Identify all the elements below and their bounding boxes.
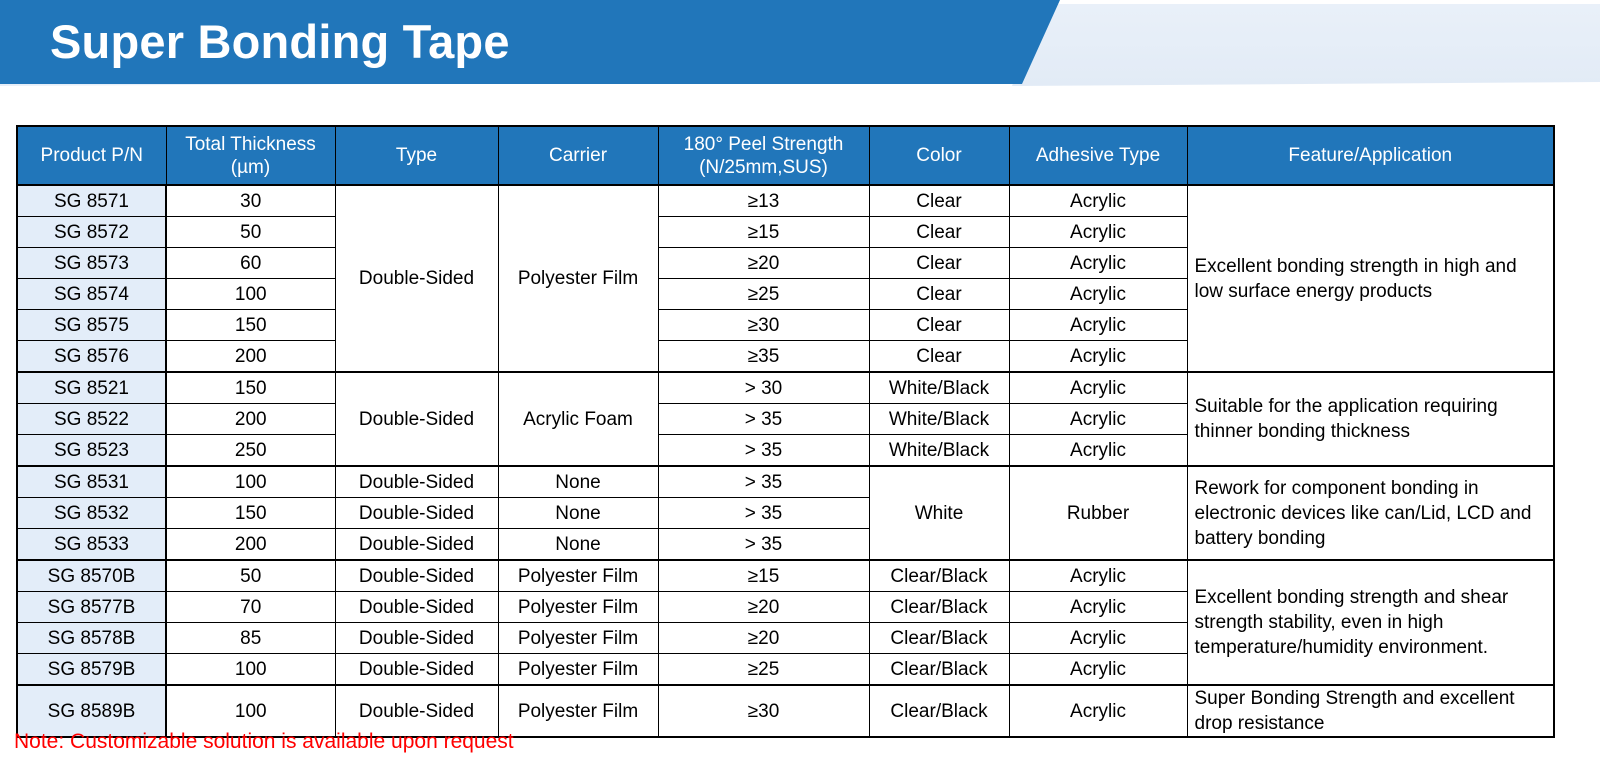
- cell-feature-application: Super Bonding Strength and excellent dro…: [1187, 685, 1554, 737]
- cell-color-merged: White: [869, 466, 1009, 560]
- cell-feature-application: Suitable for the application requiring t…: [1187, 372, 1554, 466]
- cell-color: Clear: [869, 279, 1009, 310]
- cell-carrier: Polyester Film: [498, 685, 658, 737]
- column-header-color: Color: [869, 126, 1009, 185]
- cell-product-pn: SG 8522: [17, 404, 166, 435]
- cell-adhesive-type: Acrylic: [1009, 592, 1187, 623]
- cell-adhesive-type-merged: Rubber: [1009, 466, 1187, 560]
- cell-color: Clear/Black: [869, 560, 1009, 592]
- cell-type-merged: Double-Sided: [335, 372, 498, 466]
- page-title: Super Bonding Tape: [50, 13, 510, 71]
- cell-product-pn: SG 8576: [17, 341, 166, 373]
- cell-thickness: 150: [166, 372, 335, 404]
- page-banner: Super Bonding Tape: [0, 0, 1600, 100]
- cell-type: Double-Sided: [335, 560, 498, 592]
- cell-thickness: 100: [166, 466, 335, 498]
- cell-peel-strength: ≥30: [658, 310, 869, 341]
- cell-peel-strength: ≥25: [658, 279, 869, 310]
- column-header-adhesive-type: Adhesive Type: [1009, 126, 1187, 185]
- cell-carrier: None: [498, 529, 658, 561]
- cell-color: Clear: [869, 217, 1009, 248]
- cell-product-pn: SG 8572: [17, 217, 166, 248]
- header-label: Adhesive Type: [1036, 145, 1160, 166]
- cell-peel-strength: ≥30: [658, 685, 869, 737]
- cell-color: Clear: [869, 341, 1009, 373]
- cell-color: Clear: [869, 248, 1009, 279]
- cell-product-pn: SG 8579B: [17, 654, 166, 686]
- cell-thickness: 150: [166, 310, 335, 341]
- cell-color: Clear/Black: [869, 654, 1009, 686]
- cell-feature-application: Excellent bonding strength and shear str…: [1187, 560, 1554, 685]
- cell-product-pn: SG 8578B: [17, 623, 166, 654]
- cell-thickness: 150: [166, 498, 335, 529]
- cell-product-pn: SG 8533: [17, 529, 166, 561]
- cell-adhesive-type: Acrylic: [1009, 623, 1187, 654]
- header-label-line2: (µm): [231, 157, 270, 178]
- cell-color: Clear/Black: [869, 592, 1009, 623]
- table-row: SG 8521 150 Double-Sided Acrylic Foam > …: [17, 372, 1554, 404]
- cell-carrier: Polyester Film: [498, 560, 658, 592]
- cell-adhesive-type: Acrylic: [1009, 685, 1187, 737]
- cell-type: Double-Sided: [335, 466, 498, 498]
- cell-product-pn: SG 8532: [17, 498, 166, 529]
- cell-thickness: 100: [166, 279, 335, 310]
- cell-adhesive-type: Acrylic: [1009, 435, 1187, 467]
- cell-thickness: 250: [166, 435, 335, 467]
- cell-product-pn: SG 8531: [17, 466, 166, 498]
- cell-carrier: None: [498, 466, 658, 498]
- header-label-line2: (N/25mm,SUS): [699, 157, 828, 178]
- cell-product-pn: SG 8523: [17, 435, 166, 467]
- cell-product-pn: SG 8577B: [17, 592, 166, 623]
- cell-product-pn: SG 8570B: [17, 560, 166, 592]
- cell-carrier: None: [498, 498, 658, 529]
- table-header-row: Product P/N Total Thickness (µm) Type Ca…: [17, 126, 1554, 185]
- header-label: Product P/N: [41, 145, 143, 166]
- cell-peel-strength: > 35: [658, 466, 869, 498]
- cell-feature-application: Excellent bonding strength in high and l…: [1187, 185, 1554, 372]
- cell-type: Double-Sided: [335, 654, 498, 686]
- cell-peel-strength: > 30: [658, 372, 869, 404]
- cell-color: White/Black: [869, 435, 1009, 467]
- cell-product-pn: SG 8571: [17, 185, 166, 217]
- header-label: Color: [916, 145, 961, 166]
- cell-peel-strength: ≥20: [658, 592, 869, 623]
- header-label: Feature/Application: [1288, 145, 1452, 166]
- cell-thickness: 60: [166, 248, 335, 279]
- cell-thickness: 50: [166, 217, 335, 248]
- cell-type-merged: Double-Sided: [335, 185, 498, 372]
- column-header-carrier: Carrier: [498, 126, 658, 185]
- header-label-line1: 180° Peel Strength: [684, 134, 844, 155]
- cell-type: Double-Sided: [335, 529, 498, 561]
- column-header-peel-strength: 180° Peel Strength (N/25mm,SUS): [658, 126, 869, 185]
- cell-color: Clear: [869, 310, 1009, 341]
- header-label-line1: Total Thickness: [185, 134, 316, 155]
- cell-color: Clear/Black: [869, 685, 1009, 737]
- cell-adhesive-type: Acrylic: [1009, 654, 1187, 686]
- cell-product-pn: SG 8573: [17, 248, 166, 279]
- cell-adhesive-type: Acrylic: [1009, 560, 1187, 592]
- cell-thickness: 200: [166, 341, 335, 373]
- cell-adhesive-type: Acrylic: [1009, 248, 1187, 279]
- header-label: Type: [396, 145, 437, 166]
- cell-carrier-merged: Acrylic Foam: [498, 372, 658, 466]
- cell-peel-strength: ≥13: [658, 185, 869, 217]
- cell-peel-strength: > 35: [658, 529, 869, 561]
- cell-adhesive-type: Acrylic: [1009, 310, 1187, 341]
- cell-carrier: Polyester Film: [498, 592, 658, 623]
- cell-peel-strength: ≥15: [658, 560, 869, 592]
- cell-adhesive-type: Acrylic: [1009, 341, 1187, 373]
- cell-peel-strength: ≥15: [658, 217, 869, 248]
- cell-peel-strength: ≥20: [658, 623, 869, 654]
- cell-adhesive-type: Acrylic: [1009, 404, 1187, 435]
- product-spec-table: Product P/N Total Thickness (µm) Type Ca…: [16, 125, 1555, 738]
- cell-color: White/Black: [869, 404, 1009, 435]
- cell-thickness: 200: [166, 404, 335, 435]
- column-header-feature-application: Feature/Application: [1187, 126, 1554, 185]
- cell-adhesive-type: Acrylic: [1009, 185, 1187, 217]
- cell-type: Double-Sided: [335, 498, 498, 529]
- cell-color: White/Black: [869, 372, 1009, 404]
- table-row: SG 8570B 50 Double-Sided Polyester Film …: [17, 560, 1554, 592]
- cell-carrier: Polyester Film: [498, 654, 658, 686]
- cell-type: Double-Sided: [335, 592, 498, 623]
- table-row: SG 8531 100 Double-Sided None > 35 White…: [17, 466, 1554, 498]
- header-label: Carrier: [549, 145, 607, 166]
- cell-peel-strength: ≥35: [658, 341, 869, 373]
- cell-peel-strength: > 35: [658, 435, 869, 467]
- column-header-total-thickness: Total Thickness (µm): [166, 126, 335, 185]
- table-row: SG 8571 30 Double-Sided Polyester Film ≥…: [17, 185, 1554, 217]
- cell-peel-strength: ≥25: [658, 654, 869, 686]
- cell-thickness: 50: [166, 560, 335, 592]
- cell-carrier-merged: Polyester Film: [498, 185, 658, 372]
- cell-color: Clear/Black: [869, 623, 1009, 654]
- cell-peel-strength: > 35: [658, 498, 869, 529]
- cell-product-pn: SG 8575: [17, 310, 166, 341]
- cell-thickness: 30: [166, 185, 335, 217]
- cell-thickness: 100: [166, 654, 335, 686]
- cell-thickness: 85: [166, 623, 335, 654]
- column-header-type: Type: [335, 126, 498, 185]
- cell-adhesive-type: Acrylic: [1009, 279, 1187, 310]
- cell-adhesive-type: Acrylic: [1009, 217, 1187, 248]
- cell-product-pn: SG 8521: [17, 372, 166, 404]
- column-header-product-pn: Product P/N: [17, 126, 166, 185]
- cell-feature-application: Rework for component bonding in electron…: [1187, 466, 1554, 560]
- note-text: Note: Customizable solution is available…: [14, 729, 514, 755]
- cell-adhesive-type: Acrylic: [1009, 372, 1187, 404]
- cell-color: Clear: [869, 185, 1009, 217]
- cell-type: Double-Sided: [335, 623, 498, 654]
- cell-thickness: 70: [166, 592, 335, 623]
- cell-peel-strength: ≥20: [658, 248, 869, 279]
- cell-carrier: Polyester Film: [498, 623, 658, 654]
- cell-product-pn: SG 8574: [17, 279, 166, 310]
- cell-thickness: 200: [166, 529, 335, 561]
- cell-peel-strength: > 35: [658, 404, 869, 435]
